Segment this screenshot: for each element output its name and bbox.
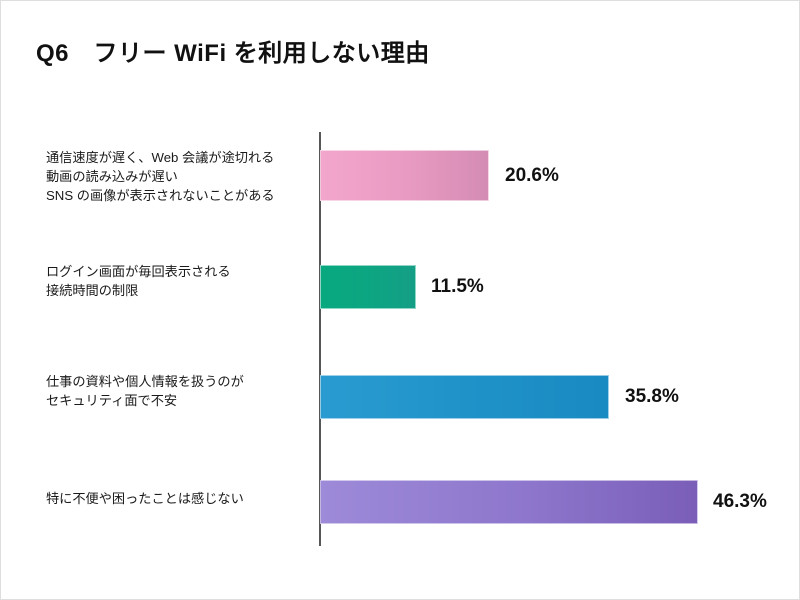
bar-segment[interactable]	[320, 150, 489, 201]
bar-category-label: ログイン画面が毎回表示される 接続時間の制限	[46, 262, 306, 300]
bar-value-label: 20.6%	[505, 165, 559, 187]
bar-row: 通信速度が遅く、Web 会議が途切れる 動画の読み込みが遅い SNS の画像が表…	[0, 148, 800, 208]
bar-segment[interactable]	[320, 480, 698, 524]
bar-value-label: 35.8%	[625, 386, 679, 408]
bar-segment[interactable]	[320, 375, 609, 419]
bar-value-label: 46.3%	[713, 491, 767, 513]
bar-category-label: 仕事の資料や個人情報を扱うのが セキュリティ面で不安	[46, 372, 306, 410]
bar-row: 仕事の資料や個人情報を扱うのが セキュリティ面で不安 35.8%	[0, 368, 800, 428]
slide-canvas: Q6 フリー WiFi を利用しない理由 通信速度が遅く、Web 会議が途切れる…	[0, 0, 800, 600]
bar-row: 特に不便や困ったことは感じない 46.3%	[0, 472, 800, 532]
horizontal-bar-chart: 通信速度が遅く、Web 会議が途切れる 動画の読み込みが遅い SNS の画像が表…	[0, 0, 800, 600]
bar-category-label: 特に不便や困ったことは感じない	[46, 489, 306, 508]
bar-row: ログイン画面が毎回表示される 接続時間の制限 11.5%	[0, 258, 800, 318]
bar-value-label: 11.5%	[431, 276, 484, 298]
bar-category-label: 通信速度が遅く、Web 会議が途切れる 動画の読み込みが遅い SNS の画像が表…	[46, 148, 306, 205]
bar-segment[interactable]	[320, 265, 416, 309]
